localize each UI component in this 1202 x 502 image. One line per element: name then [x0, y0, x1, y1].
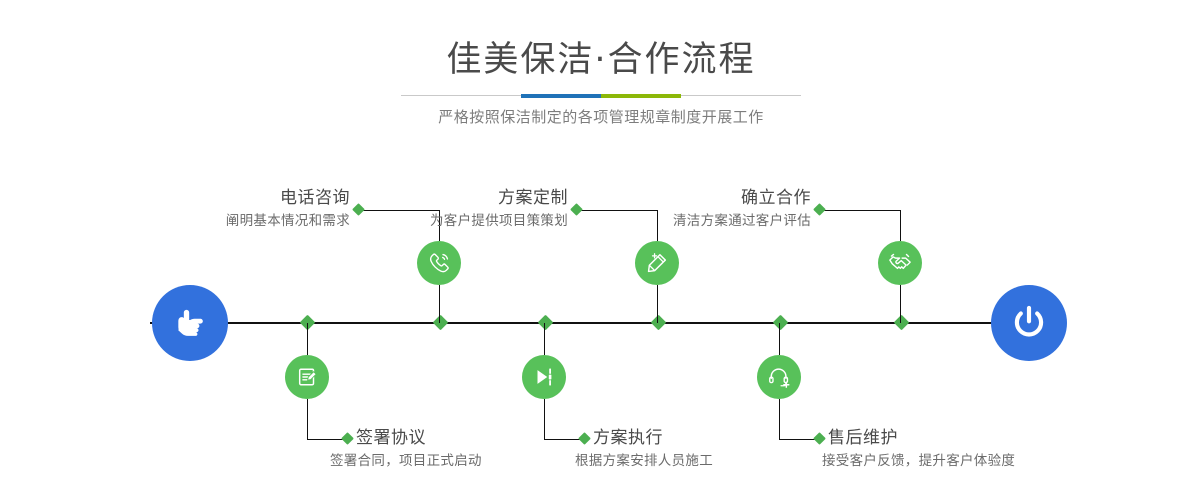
pointing-hand-icon — [170, 303, 210, 343]
connector-hline-5 — [820, 210, 900, 211]
connector-vline-1b — [439, 285, 440, 323]
divider-segment-green — [601, 94, 681, 98]
connector-vline-4a — [544, 323, 545, 355]
step-label-6: 售后维护 接受客户反馈，提升客户体验度 — [828, 426, 1108, 472]
flow-diagram-page: 佳美保洁·合作流程 严格按照保洁制定的各项管理规章制度开展工作 — [0, 0, 1202, 502]
step-node-6[interactable] — [757, 355, 801, 399]
step-desc-4: 根据方案安排人员施工 — [575, 450, 853, 472]
page-subtitle: 严格按照保洁制定的各项管理规章制度开展工作 — [0, 106, 1202, 128]
step-title-1: 电话咨询 — [100, 186, 350, 210]
step-label-4: 方案执行 根据方案安排人员施工 — [593, 426, 853, 472]
label-marker-2 — [341, 432, 354, 445]
title-divider — [401, 94, 801, 98]
connector-vline-2b — [307, 399, 308, 439]
connector-vline-6b — [779, 399, 780, 439]
step-node-4[interactable] — [522, 355, 566, 399]
document-sign-icon — [294, 364, 320, 390]
connector-vline-3b — [657, 285, 658, 323]
power-icon — [1009, 303, 1049, 343]
step-label-3: 方案定制 为客户提供项目策策划 — [320, 186, 568, 232]
connector-vline-2a — [307, 323, 308, 355]
handshake-icon — [887, 250, 913, 276]
pencil-plan-icon — [644, 250, 670, 276]
step-node-1[interactable] — [417, 241, 461, 285]
step-node-2[interactable] — [285, 355, 329, 399]
customer-service-add-icon — [766, 364, 792, 390]
step-desc-3: 为客户提供项目策策划 — [320, 210, 568, 232]
play-execute-icon — [531, 364, 557, 390]
axis-node-marker — [773, 315, 789, 331]
divider-segment-blue — [521, 94, 601, 98]
timeline-end-node[interactable] — [991, 285, 1067, 361]
step-desc-2: 签署合同，项目正式启动 — [330, 450, 616, 472]
step-title-6: 售后维护 — [828, 426, 1108, 450]
axis-node-marker — [433, 315, 449, 331]
step-title-2: 签署协议 — [356, 426, 616, 450]
step-label-1: 电话咨询 阐明基本情况和需求 — [100, 186, 350, 232]
step-desc-6: 接受客户反馈，提升客户体验度 — [822, 450, 1108, 472]
connector-vline-5a — [900, 210, 901, 241]
axis-node-marker — [538, 315, 554, 331]
connector-vline-6a — [779, 323, 780, 355]
step-node-5[interactable] — [878, 241, 922, 285]
phone-call-icon — [426, 250, 452, 276]
connector-vline-5b — [900, 285, 901, 323]
timeline-start-node[interactable] — [152, 285, 228, 361]
step-desc-5: 清洁方案通过客户评估 — [563, 210, 811, 232]
step-desc-1: 阐明基本情况和需求 — [100, 210, 350, 232]
axis-node-marker — [894, 315, 910, 331]
label-marker-5 — [813, 203, 826, 216]
step-node-3[interactable] — [635, 241, 679, 285]
page-title: 佳美保洁·合作流程 — [0, 38, 1202, 82]
connector-vline-4b — [544, 399, 545, 439]
step-title-5: 确立合作 — [563, 186, 811, 210]
step-title-3: 方案定制 — [320, 186, 568, 210]
axis-node-marker — [651, 315, 667, 331]
step-label-5: 确立合作 清洁方案通过客户评估 — [563, 186, 811, 232]
timeline-axis — [150, 322, 1052, 324]
